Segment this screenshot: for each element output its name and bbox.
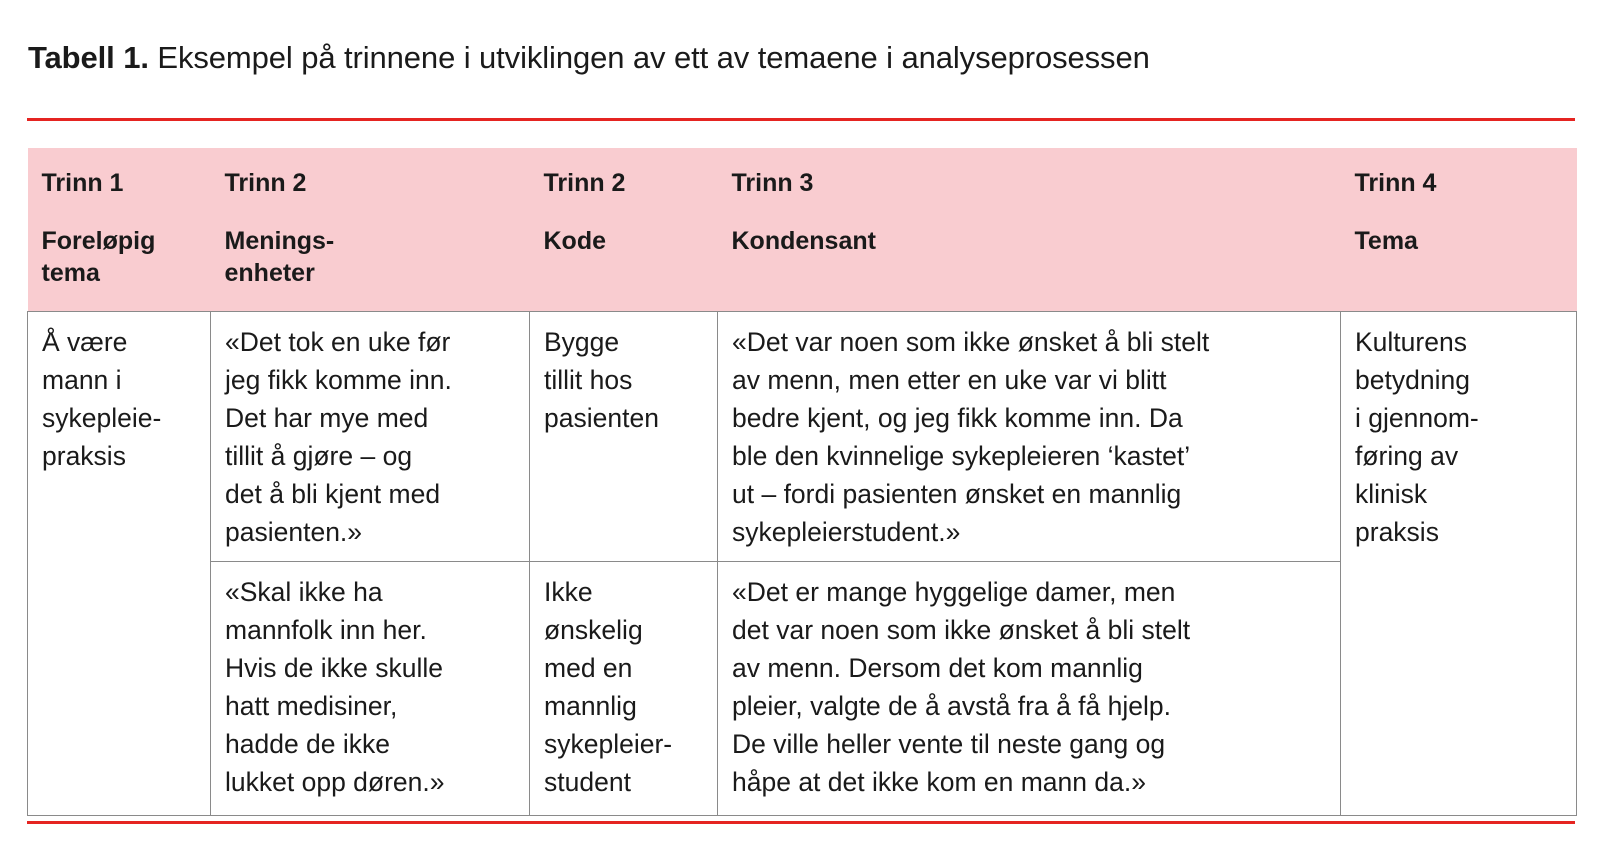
- top-rule-divider: [27, 118, 1575, 121]
- column-header-trinn-2-kode: Trinn 2 Kode: [530, 148, 718, 312]
- column-header-step-number: Trinn 3: [732, 167, 1327, 199]
- analysis-steps-table: Trinn 1 Foreløpig tema Trinn 2 Menings- …: [27, 148, 1577, 816]
- column-header-trinn-1: Trinn 1 Foreløpig tema: [28, 148, 211, 312]
- column-header-trinn-2-meningsenheter: Trinn 2 Menings- enheter: [211, 148, 530, 312]
- column-header-trinn-3-kondensant: Trinn 3 Kondensant: [718, 148, 1341, 312]
- table-figure-page: Tabell 1. Eksempel på trinnene i utvikli…: [0, 0, 1600, 860]
- column-header-step-name: Kondensant: [732, 225, 1327, 257]
- cell-meningsenhet: «Skal ikke ha mannfolk inn her. Hvis de …: [211, 562, 530, 816]
- cell-meningsenhet: «Det tok en uke før jeg fikk komme inn. …: [211, 312, 530, 562]
- cell-tema: Kulturens betydning i gjennom- føring av…: [1341, 312, 1577, 816]
- cell-forelopig-tema: Å være mann i sykepleie- praksis: [28, 312, 211, 816]
- column-header-step-number: Trinn 4: [1355, 167, 1563, 199]
- cell-kode: Bygge tillit hos pasienten: [530, 312, 718, 562]
- table-caption: Tabell 1. Eksempel på trinnene i utvikli…: [28, 38, 1568, 78]
- table-body: Å være mann i sykepleie- praksis «Det to…: [28, 312, 1577, 816]
- column-header-trinn-4-tema: Trinn 4 Tema: [1341, 148, 1577, 312]
- column-header-step-number: Trinn 2: [544, 167, 704, 199]
- bottom-rule-divider: [27, 821, 1575, 824]
- table-caption-label: Tabell 1.: [28, 40, 149, 75]
- column-header-step-name: Tema: [1355, 225, 1563, 257]
- table-header: Trinn 1 Foreløpig tema Trinn 2 Menings- …: [28, 148, 1577, 312]
- column-header-step-name: Menings- enheter: [225, 225, 516, 289]
- table-caption-text: Eksempel på trinnene i utviklingen av et…: [149, 40, 1150, 75]
- cell-kondensant: «Det var noen som ikke ønsket å bli stel…: [718, 312, 1341, 562]
- column-header-step-number: Trinn 1: [42, 167, 197, 199]
- cell-kode: Ikke ønskelig med en mannlig sykepleier-…: [530, 562, 718, 816]
- table-row: Å være mann i sykepleie- praksis «Det to…: [28, 312, 1577, 562]
- column-header-step-name: Kode: [544, 225, 704, 257]
- column-header-step-name: Foreløpig tema: [42, 225, 197, 289]
- column-header-step-number: Trinn 2: [225, 167, 516, 199]
- cell-kondensant: «Det er mange hyggelige damer, men det v…: [718, 562, 1341, 816]
- table-container: Trinn 1 Foreløpig tema Trinn 2 Menings- …: [27, 148, 1576, 816]
- table-header-row: Trinn 1 Foreløpig tema Trinn 2 Menings- …: [28, 148, 1577, 312]
